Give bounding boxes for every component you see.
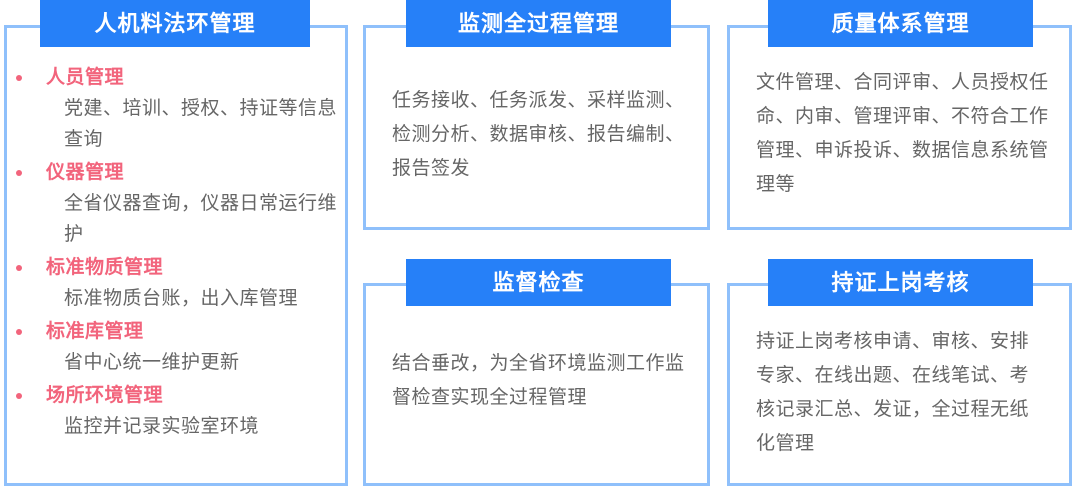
list-item: 仪器管理 全省仪器查询，仪器日常运行维护: [8, 158, 344, 250]
list-item: 人员管理 党建、培训、授权、持证等信息查询: [8, 63, 344, 155]
list-item-description: 全省仪器查询，仪器日常运行维护: [8, 188, 344, 250]
list-item-description: 监控并记录实验室环境: [8, 411, 344, 442]
list-item-title: 仪器管理: [8, 158, 344, 188]
panel-title-zhi-liang-ti-xi: 质量体系管理: [768, 0, 1033, 47]
list-item: 标准物质管理 标准物质台账，出入库管理: [8, 253, 344, 314]
list-item: 场所环境管理 监控并记录实验室环境: [8, 381, 344, 442]
panel-title-chi-zheng-shang-gang: 持证上岗考核: [768, 259, 1033, 306]
panel-content-jian-ce-quan-guo-cheng: 任务接收、任务派发、采样监测、检测分析、数据审核、报告编制、报告签发: [392, 84, 692, 186]
bullet-dot-icon: [16, 170, 22, 176]
panel-title-jian-ce-quan-guo-cheng: 监测全过程管理: [406, 0, 671, 47]
bullet-dot-icon: [16, 393, 22, 399]
panel-title-ren-ji-liao-fa-huan: 人机料法环管理: [40, 0, 310, 47]
panel-board: 人机料法环管理 人员管理 党建、培训、授权、持证等信息查询 仪器管理 全省仪器查…: [0, 0, 1076, 489]
panel-content-jian-du-jian-cha: 结合垂改，为全省环境监测工作监督检查实现全过程管理: [392, 347, 696, 415]
list-item-description: 省中心统一维护更新: [8, 347, 344, 378]
bullet-dot-icon: [16, 265, 22, 271]
list-item-title: 标准物质管理: [8, 253, 344, 283]
panel-content-ren-ji-liao-fa-huan: 人员管理 党建、培训、授权、持证等信息查询 仪器管理 全省仪器查询，仪器日常运行…: [8, 63, 344, 445]
list-item-title: 人员管理: [8, 63, 344, 93]
bullet-dot-icon: [16, 75, 22, 81]
bullet-dot-icon: [16, 329, 22, 335]
list-item-description: 党建、培训、授权、持证等信息查询: [8, 93, 344, 155]
feature-list: 人员管理 党建、培训、授权、持证等信息查询 仪器管理 全省仪器查询，仪器日常运行…: [8, 63, 344, 442]
list-item-title: 标准库管理: [8, 317, 344, 347]
panel-content-chi-zheng-shang-gang: 持证上岗考核申请、审核、安排专家、在线出题、在线笔试、考核记录汇总、发证，全过程…: [756, 325, 1048, 461]
list-item-description: 标准物质台账，出入库管理: [8, 283, 344, 314]
panel-content-zhi-liang-ti-xi: 文件管理、合同评审、人员授权任命、内审、管理评审、不符合工作管理、申诉投诉、数据…: [756, 66, 1050, 202]
list-item-title: 场所环境管理: [8, 381, 344, 411]
panel-title-jian-du-jian-cha: 监督检查: [406, 259, 671, 306]
list-item: 标准库管理 省中心统一维护更新: [8, 317, 344, 378]
